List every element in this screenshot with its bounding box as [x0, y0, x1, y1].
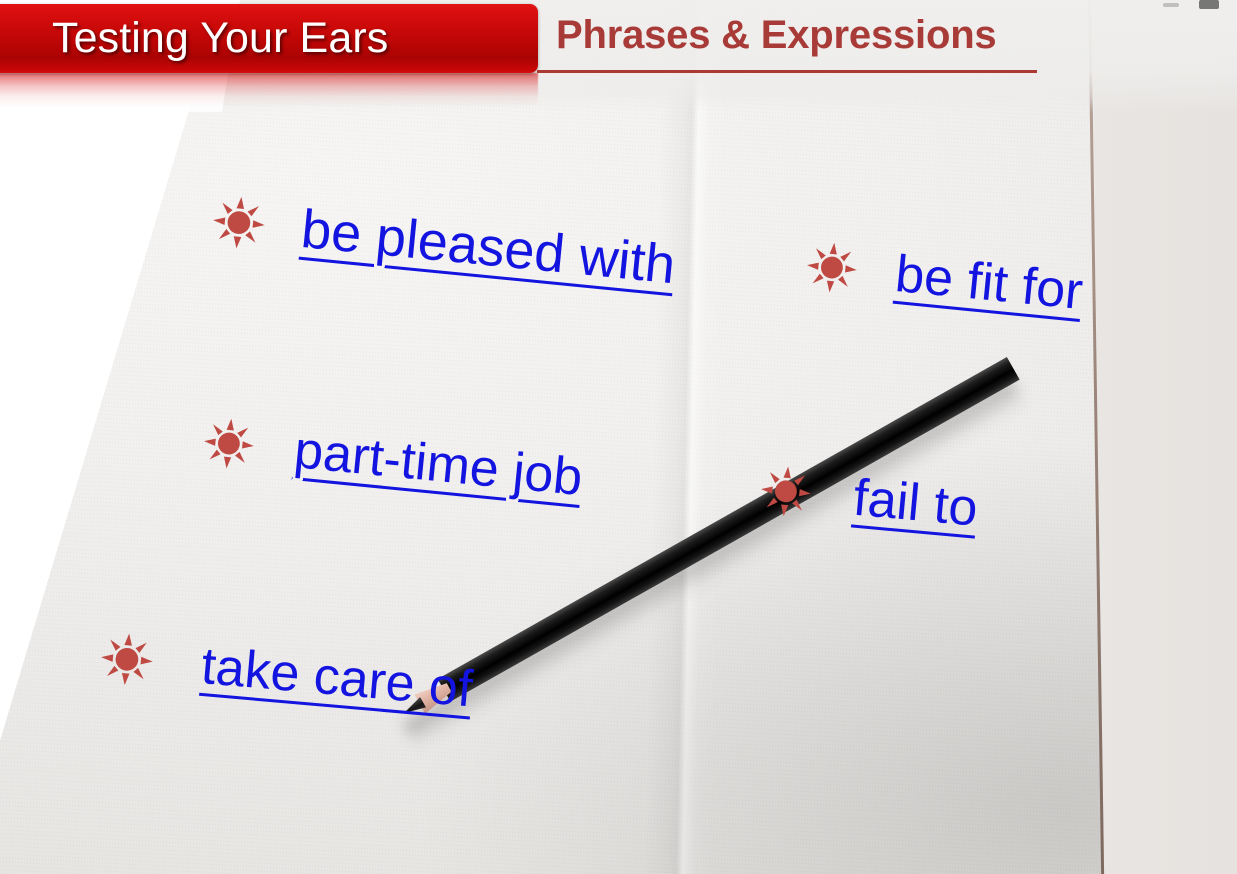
- paper-sheet: [0, 0, 1237, 874]
- top-mark-right: [1199, 0, 1219, 9]
- sun-icon: [803, 239, 860, 296]
- section-heading: Phrases & Expressions: [556, 13, 996, 58]
- slide-header: Testing Your Ears Phrases & Expressions: [0, 0, 1237, 112]
- top-right-marks: [1145, 0, 1231, 16]
- title-banner[interactable]: Testing Your Ears: [0, 4, 538, 73]
- slide: Testing Your Ears Phrases & Expressions …: [0, 0, 1237, 874]
- section-heading-rule: [537, 70, 1037, 73]
- sun-icon: [209, 193, 268, 252]
- sun-icon: [200, 415, 257, 472]
- sun-icon: [98, 630, 157, 689]
- page-title: Testing Your Ears: [0, 17, 388, 60]
- sun-icon: [758, 463, 814, 519]
- phrase-link[interactable]: fail to: [851, 471, 980, 537]
- title-banner-reflection: [0, 73, 538, 107]
- background-photo: [0, 0, 1237, 874]
- top-mark-left: [1163, 3, 1179, 7]
